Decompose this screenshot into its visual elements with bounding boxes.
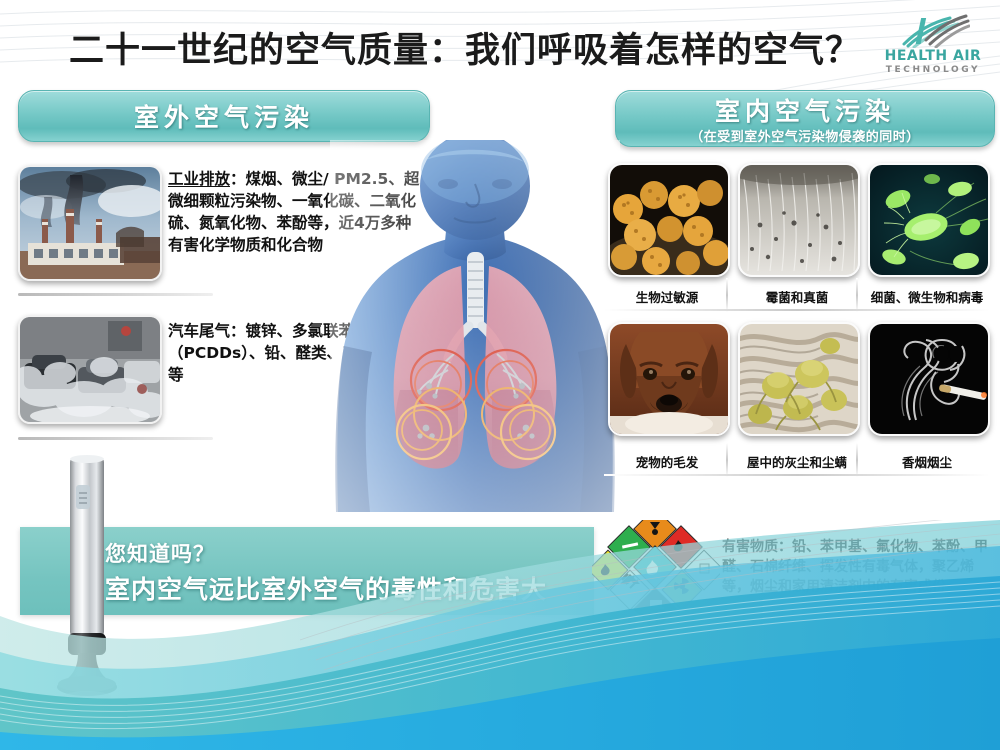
caption-allergen: 生物过敏源 — [604, 287, 730, 306]
logo-name-line2: TECHNOLOGY — [874, 65, 992, 75]
caption-pet-dander: 宠物的毛发 — [604, 452, 730, 471]
did-you-know-line2: 室内空气远比室外空气的毒性和危害大 — [105, 570, 547, 606]
outdoor-item-vehicle-sep: ： — [230, 322, 246, 340]
divider-thumb-v2 — [856, 278, 858, 312]
slide-canvas: 二十一世纪的空气质量：我们呼吸着怎样的空气？ HEALTH AIR TECHNO… — [0, 0, 1000, 750]
divider-outdoor-2 — [18, 437, 213, 440]
hazardous-materials-placards-icon — [592, 520, 720, 628]
page-title: 二十一世纪的空气质量：我们呼吸着怎样的空气？ — [60, 22, 870, 73]
divider-thumb-v4 — [856, 443, 858, 477]
outdoor-item-industrial-sep: ： — [230, 170, 246, 188]
outdoor-item-vehicle-label: 汽车尾气 — [168, 322, 230, 340]
logo-swoosh-icon — [900, 14, 970, 48]
banner-indoor-subtitle: （在受到室外空气污染物侵袭的同时） — [690, 126, 920, 145]
human-torso-lungs-illustration — [330, 140, 620, 560]
divider-outdoor-1 — [18, 293, 213, 296]
banner-indoor-pollution: 室内空气污染 （在受到室外空气污染物侵袭的同时） — [615, 90, 995, 147]
caption-cigarette: 香烟烟尘 — [864, 452, 990, 471]
banner-indoor-title: 室内空气污染 — [715, 92, 895, 128]
divider-thumb-h2 — [604, 474, 990, 476]
caption-dust-mite: 屋中的灰尘和尘螨 — [734, 452, 860, 471]
caption-mold: 霉菌和真菌 — [734, 287, 860, 306]
hazard-substances-text: 有害物质：铅、苯甲基、氟化物、苯酚、甲醛、石棉纤维、挥发性有毒气体，聚乙烯等，烟… — [722, 538, 994, 598]
traffic-exhaust-photo — [18, 315, 162, 424]
caption-bacteria: 细菌、微生物和病毒 — [864, 287, 990, 306]
logo-name-line1: HEALTH AIR — [874, 48, 992, 64]
divider-thumb-v1 — [726, 278, 728, 312]
slide-header: 二十一世纪的空气质量：我们呼吸着怎样的空气？ HEALTH AIR TECHNO… — [0, 8, 1000, 80]
pet-dander-dog-photo — [608, 322, 730, 436]
mold-fungus-photo — [738, 163, 860, 277]
brand-logo: HEALTH AIR TECHNOLOGY — [874, 14, 992, 80]
banner-outdoor-title: 室外空气污染 — [134, 98, 314, 134]
pollen-allergen-photo — [608, 163, 730, 277]
outdoor-item-industrial-label: 工业排放 — [168, 170, 230, 188]
divider-thumb-h1 — [604, 309, 990, 311]
factory-smokestacks-photo — [18, 165, 162, 281]
divider-thumb-v3 — [726, 443, 728, 477]
banner-outdoor-pollution: 室外空气污染 — [18, 90, 430, 142]
cigarette-smoke-photo — [868, 322, 990, 436]
air-purifier-tower-icon — [48, 455, 126, 705]
bacteria-virus-photo — [868, 163, 990, 277]
dust-mite-photo — [738, 322, 860, 436]
